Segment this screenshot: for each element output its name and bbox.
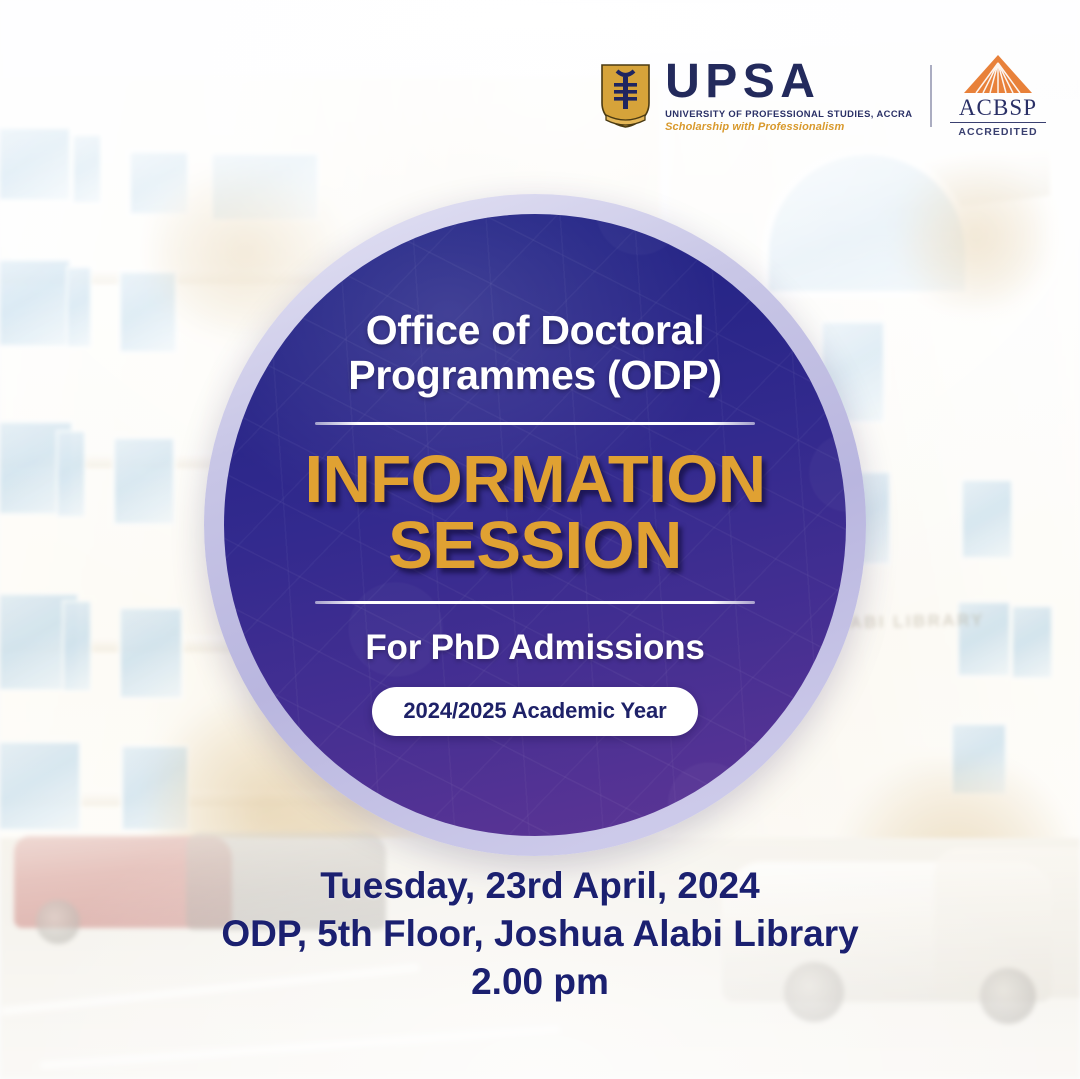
badge-subtitle: For PhD Admissions — [365, 628, 704, 668]
window — [56, 430, 86, 518]
event-flyer-poster: ALABI LIBRARY UPSA UNIVERSITY OF PROFESS… — [0, 0, 1080, 1079]
window — [960, 478, 1014, 560]
headline-line-2: SESSION — [388, 513, 682, 579]
window — [0, 258, 72, 348]
window — [112, 436, 176, 526]
window — [66, 266, 92, 348]
acbsp-logo: ACBSP ACCREDITED — [950, 54, 1046, 138]
upsa-full-name: UNIVERSITY OF PROFESSIONAL STUDIES, ACCR… — [665, 108, 912, 119]
upsa-tagline: Scholarship with Professionalism — [665, 121, 844, 133]
circle-content: Office of Doctoral Programmes (ODP) INFO… — [224, 214, 846, 836]
window — [0, 126, 72, 202]
upsa-wordblock: UPSA UNIVERSITY OF PROFESSIONAL STUDIES,… — [665, 59, 912, 133]
central-circle-badge: Office of Doctoral Programmes (ODP) INFO… — [204, 194, 866, 856]
header-logo-lockup: UPSA UNIVERSITY OF PROFESSIONAL STUDIES,… — [599, 54, 1046, 138]
office-title: Office of Doctoral Programmes (ODP) — [282, 308, 788, 398]
upsa-wordmark: UPSA — [665, 59, 820, 104]
window — [72, 134, 102, 204]
upsa-shield-icon — [599, 63, 652, 129]
window — [0, 740, 82, 832]
upsa-logo: UPSA UNIVERSITY OF PROFESSIONAL STUDIES,… — [599, 59, 912, 133]
acbsp-name: ACBSP — [959, 96, 1037, 119]
event-venue: ODP, 5th Floor, Joshua Alabi Library — [0, 910, 1080, 958]
event-time: 2.00 pm — [0, 958, 1080, 1006]
logo-divider — [930, 65, 932, 127]
acbsp-sunburst-icon — [962, 54, 1034, 94]
window — [1010, 604, 1054, 680]
wall-stain — [900, 160, 1050, 310]
event-details: Tuesday, 23rd April, 2024 ODP, 5th Floor… — [0, 862, 1080, 1006]
academic-year-pill: 2024/2025 Academic Year — [372, 687, 697, 736]
event-date: Tuesday, 23rd April, 2024 — [0, 862, 1080, 910]
acbsp-accredited-label: ACCREDITED — [950, 122, 1046, 138]
divider-bottom — [315, 601, 755, 604]
divider-top — [315, 422, 755, 425]
window — [118, 606, 184, 700]
window — [62, 600, 92, 692]
headline-line-1: INFORMATION — [304, 447, 765, 513]
